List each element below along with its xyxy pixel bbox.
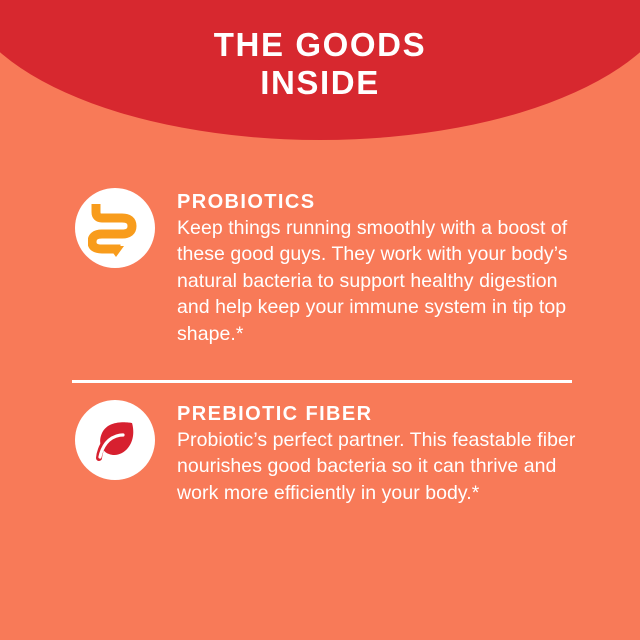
poster-canvas: THE GOODS INSIDE PROBIOTICS Keep things … (0, 0, 640, 640)
section-probiotics: PROBIOTICS Keep things running smoothly … (0, 188, 640, 347)
probiotics-body: Keep things running smoothly with a boos… (177, 215, 577, 347)
page-title: THE GOODS INSIDE (0, 26, 640, 102)
prebiotic-fiber-heading: PREBIOTIC FIBER (177, 402, 577, 426)
probiotics-text-column: PROBIOTICS Keep things running smoothly … (177, 188, 577, 347)
probiotics-heading: PROBIOTICS (177, 190, 577, 214)
section-divider (72, 380, 572, 383)
probiotics-icon-badge (75, 188, 155, 268)
section-prebiotic-fiber: PREBIOTIC FIBER Probiotic’s perfect part… (0, 400, 640, 506)
prebiotic-fiber-body: Probiotic’s perfect partner. This feasta… (177, 427, 577, 506)
leaf-icon (91, 416, 139, 464)
prebiotic-fiber-icon-badge (75, 400, 155, 480)
gut-icon (88, 199, 142, 257)
prebiotic-fiber-text-column: PREBIOTIC FIBER Probiotic’s perfect part… (177, 400, 577, 506)
